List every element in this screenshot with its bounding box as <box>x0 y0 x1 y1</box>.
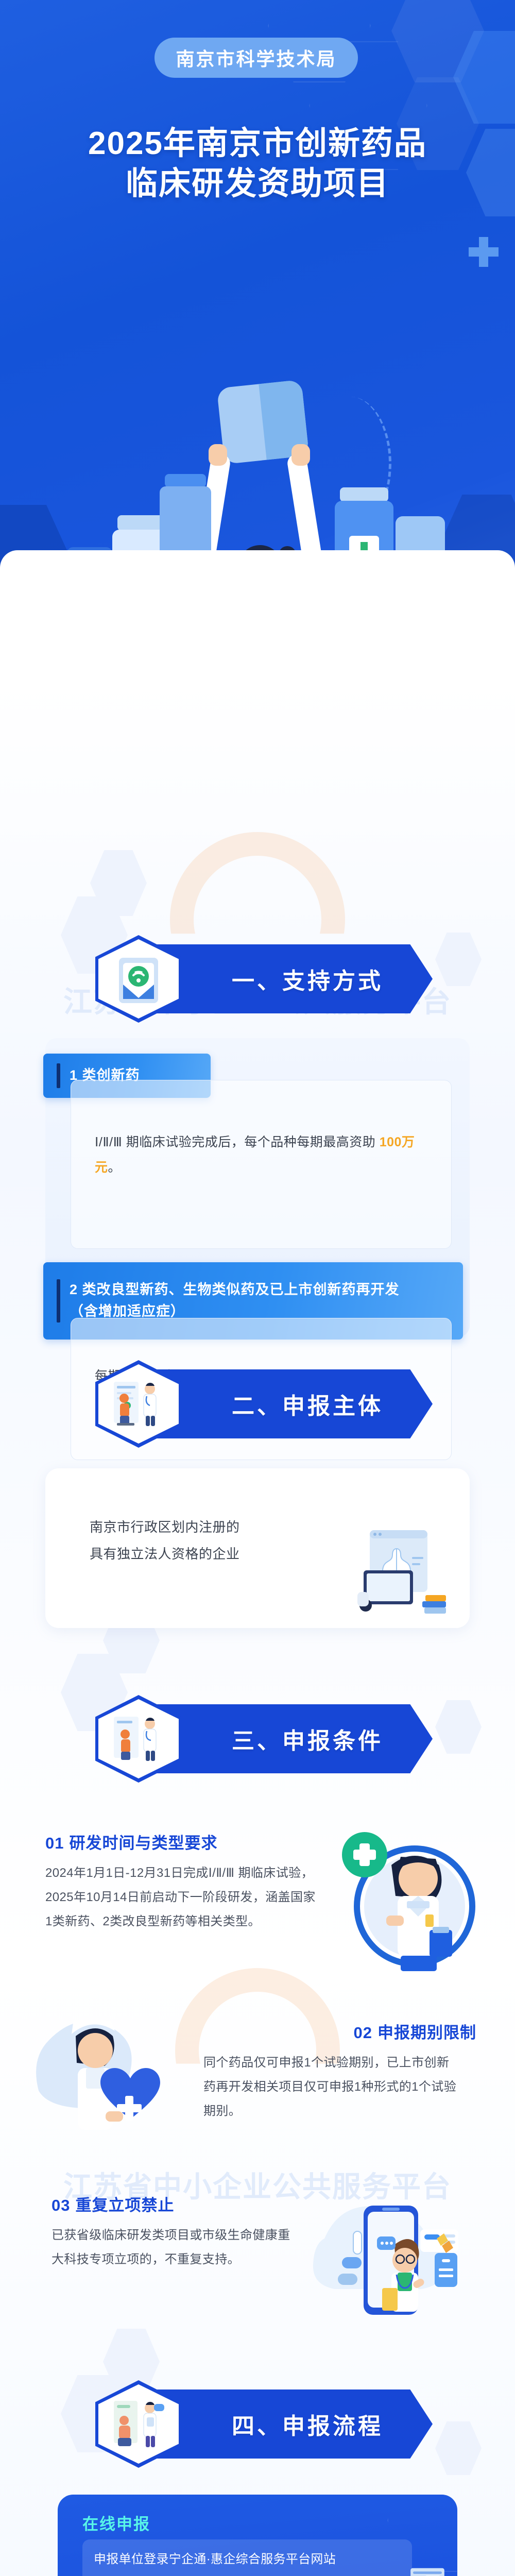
section-title-text: 四、申报流程 <box>232 2408 383 2441</box>
process-step-text-a: 申报单位登录宁企通·惠企综合服务平台网站（http://nqt.nanjing.… <box>94 2552 394 2576</box>
section-title-bar: 一、支持方式 <box>152 944 433 1013</box>
condition-body: 2024年1月1日-12月31日完成Ⅰ/Ⅱ/Ⅲ 期临床试验，2025年10月14… <box>45 1861 318 1934</box>
condition-heading: 01研发时间与类型要求 <box>45 1830 365 1853</box>
condition-item-02: 02申报期别限制 同个药品仅可申报1个试验期别，已上市创新药再开发相关项目仅可申… <box>203 2020 476 2123</box>
process-step-label: 在线申报 <box>82 2511 433 2534</box>
process-step-box: 申报单位登录宁企通·惠企综合服务平台网站（http://nqt.nanjing.… <box>82 2539 412 2576</box>
condition-number: 02 <box>354 2024 372 2042</box>
section-title-bar: 三、申报条件 <box>152 1704 433 1773</box>
condition-title: 申报期别限制 <box>377 2024 476 2042</box>
condition-heading: 02申报期别限制 <box>203 2020 476 2043</box>
condition-number: 01 <box>45 1834 64 1852</box>
condition-heading: 03重复立项禁止 <box>51 2192 340 2215</box>
condition-item-01: 01研发时间与类型要求 2024年1月1日-12月31日完成Ⅰ/Ⅱ/Ⅲ 期临床试… <box>45 1830 365 1934</box>
section-header-support: 一、支持方式 <box>95 935 433 1023</box>
doctor-patient-icon <box>109 1376 168 1433</box>
doctor-checkup-icon <box>109 1710 168 1768</box>
process-step-online: 在线申报 申报单位登录宁企通·惠企综合服务平台网站（http://nqt.nan… <box>82 2511 433 2576</box>
infographic-page: 南京市科学技术局 2025年南京市创新药品 临床研发资助项目 <box>0 0 515 2576</box>
accent-rule <box>57 1279 60 1323</box>
condition-title: 重复立项禁止 <box>75 2196 174 2214</box>
section-title-bar: 二、申报主体 <box>152 1369 433 1438</box>
section-title-text: 二、申报主体 <box>232 1387 383 1420</box>
condition-item-03: 03重复立项禁止 已获省级临床研发类项目或市级生命健康重大科技专项立项的，不重复… <box>51 2192 340 2272</box>
accent-rule <box>57 1063 60 1088</box>
support-amount-suffix: 。 <box>108 1160 122 1175</box>
medical-report-icon <box>109 951 168 1008</box>
process-step-text: 申报单位登录宁企通·惠企综合服务平台网站（http://nqt.nanjing.… <box>94 2548 401 2576</box>
hero-white-panel <box>0 550 515 680</box>
condition-body: 已获省级临床研发类项目或市级生命健康重大科技专项立项的，不重复支持。 <box>51 2224 294 2272</box>
nurse-heart-illustration <box>28 2004 183 2159</box>
condition-body: 同个药品仅可申报1个试验期别，已上市创新药再开发相关项目仅可申报1种形式的1个试… <box>203 2051 461 2123</box>
browser-window-icon <box>409 2566 446 2576</box>
section-header-process: 四、申报流程 <box>95 2380 433 2468</box>
doctor-consult-icon <box>109 2396 168 2453</box>
support-item-head-text: 2 类改良型新药、生物类似药及已上市创新药再开发（含增加适应症） <box>70 1279 420 1323</box>
section-title-bar: 四、申报流程 <box>152 2389 433 2459</box>
female-doctor-illustration <box>324 1824 479 1978</box>
support-amount-prefix: Ⅰ/Ⅱ/Ⅲ 期临床试验完成后，每个品种每期最高资助 <box>95 1135 380 1149</box>
support-item-body-text: Ⅰ/Ⅱ/Ⅲ 期临床试验完成后，每个品种每期最高资助 100万元。 <box>71 1080 451 1180</box>
mobile-doctor-illustration <box>304 2182 469 2336</box>
hero-banner: 南京市科学技术局 2025年南京市创新药品 临床研发资助项目 <box>0 0 515 680</box>
process-flow-panel: 在线申报 申报单位登录宁企通·惠企综合服务平台网站（http://nqt.nan… <box>58 2495 457 2576</box>
condition-title: 研发时间与类型要求 <box>69 1834 217 1852</box>
applicant-card: 南京市行政区划内注册的 具有独立法人资格的企业 <box>45 1468 470 1628</box>
section-header-applicant: 二、申报主体 <box>95 1360 433 1448</box>
lung-scan-illustration <box>345 1528 448 1621</box>
condition-number: 03 <box>51 2196 70 2214</box>
section-title-text: 一、支持方式 <box>232 962 383 995</box>
section-header-conditions: 三、申报条件 <box>95 1695 433 1783</box>
section-title-text: 三、申报条件 <box>232 1722 383 1755</box>
support-item-body: Ⅰ/Ⅱ/Ⅲ 期临床试验完成后，每个品种每期最高资助 100万元。 <box>71 1080 452 1249</box>
